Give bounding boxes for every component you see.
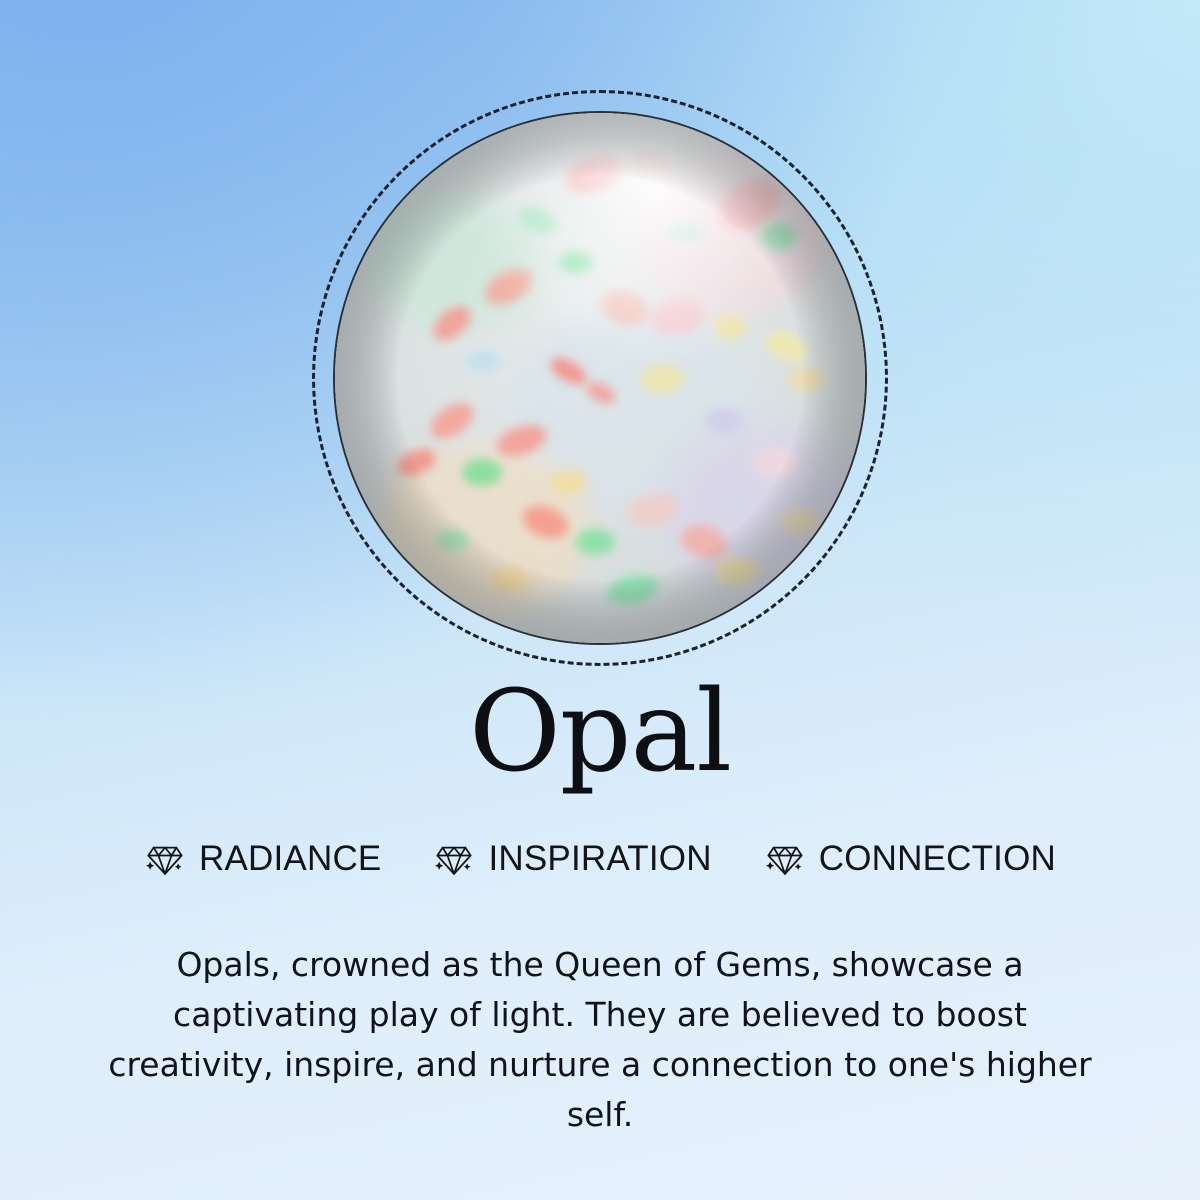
attribute-item: CONNECTION xyxy=(764,838,1056,880)
diamond-icon xyxy=(433,838,475,880)
description-text: Opals, crowned as the Queen of Gems, sho… xyxy=(100,940,1100,1141)
diamond-icon xyxy=(144,838,186,880)
attribute-item: INSPIRATION xyxy=(433,838,711,880)
gemstone-info-card: Opal RADIANCE xyxy=(0,0,1200,1200)
attribute-label: CONNECTION xyxy=(819,839,1056,879)
diamond-icon xyxy=(764,838,806,880)
attribute-item: RADIANCE xyxy=(144,838,381,880)
attribute-label: RADIANCE xyxy=(199,839,381,879)
opal-stone xyxy=(333,111,867,645)
gem-illustration xyxy=(0,0,1200,700)
attribute-list: RADIANCE INSPIRATION xyxy=(0,838,1200,880)
attribute-label: INSPIRATION xyxy=(488,839,711,879)
page-title: Opal xyxy=(0,676,1200,788)
opal-texture xyxy=(335,113,865,643)
